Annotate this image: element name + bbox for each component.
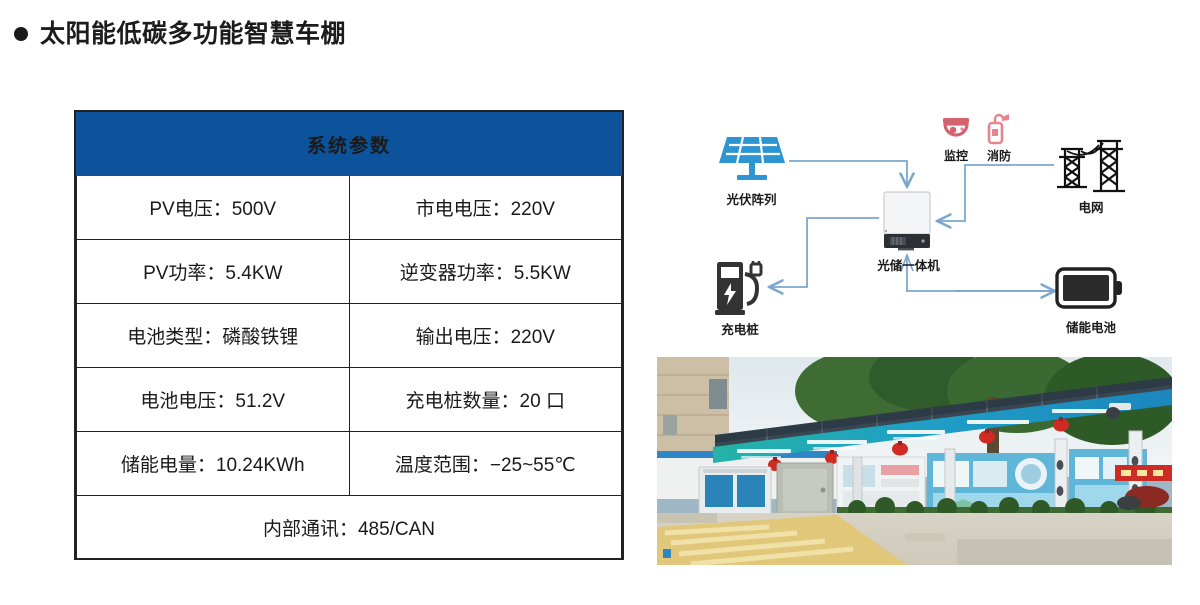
cell-pile-count: 充电桩数量：20 口 [349,368,622,432]
fire-extinguisher-icon [983,113,1011,145]
cell-battery-voltage: 电池电压：51.2V [77,368,350,432]
table-row: PV电压：500V 市电电压：220V [77,176,622,240]
cell-output-voltage: 输出电压：220V [349,304,622,368]
table-row: PV功率：5.4KW 逆变器功率：5.5KW [77,240,622,304]
table-header-cell: 系统参数 [77,113,622,176]
battery-icon [1055,265,1125,311]
label-charging-pile: 充电桩 [703,319,777,338]
solar-panel-icon [715,133,789,185]
label-inverter: 光储一体机 [851,255,966,274]
arrow-inverter-to-pile [771,218,879,287]
page-title: 太阳能低碳多功能智慧车棚 [14,14,346,50]
photo-illustration [657,357,1172,565]
label-storage-battery: 储能电池 [1053,317,1129,336]
charging-pile-icon [713,260,765,316]
label-solar-array: 光伏阵列 [699,189,804,208]
table-row: 内部通讯：485/CAN [77,496,622,560]
cctv-camera-icon [941,115,971,145]
solar-carport-photo [657,357,1172,565]
cell-pv-power: PV功率：5.4KW [77,240,350,304]
label-monitoring: 监控 [934,147,978,164]
table-row: 储能电量：10.24KWh 温度范围：−25~55℃ [77,432,622,496]
bullet-dot-icon [14,27,28,41]
cell-inverter-power: 逆变器功率：5.5KW [349,240,622,304]
label-fire-safety: 消防 [977,147,1021,164]
system-architecture-diagram: 光伏阵列 监控 消防 电网 [655,105,1185,350]
system-parameter-table: 系统参数 PV电压：500V 市电电压：220V PV功率：5.4KW 逆变器功… [74,110,624,560]
arrow-solar-to-inverter [789,161,907,185]
label-power-grid: 电网 [1061,197,1121,216]
inverter-cabinet-icon [880,190,934,252]
cell-mains-voltage: 市电电压：220V [349,176,622,240]
table-row: 电池电压：51.2V 充电桩数量：20 口 [77,368,622,432]
power-tower-icon [1053,135,1127,195]
arrow-grid-to-inverter [939,165,1054,221]
cell-internal-comm: 内部通讯：485/CAN [77,496,622,560]
page-title-text: 太阳能低碳多功能智慧车棚 [40,14,346,50]
cell-temp-range: 温度范围：−25~55℃ [349,432,622,496]
cell-battery-type: 电池类型：磷酸铁锂 [77,304,350,368]
cell-storage-energy: 储能电量：10.24KWh [77,432,350,496]
cell-pv-voltage: PV电压：500V [77,176,350,240]
table-row: 电池类型：磷酸铁锂 输出电压：220V [77,304,622,368]
